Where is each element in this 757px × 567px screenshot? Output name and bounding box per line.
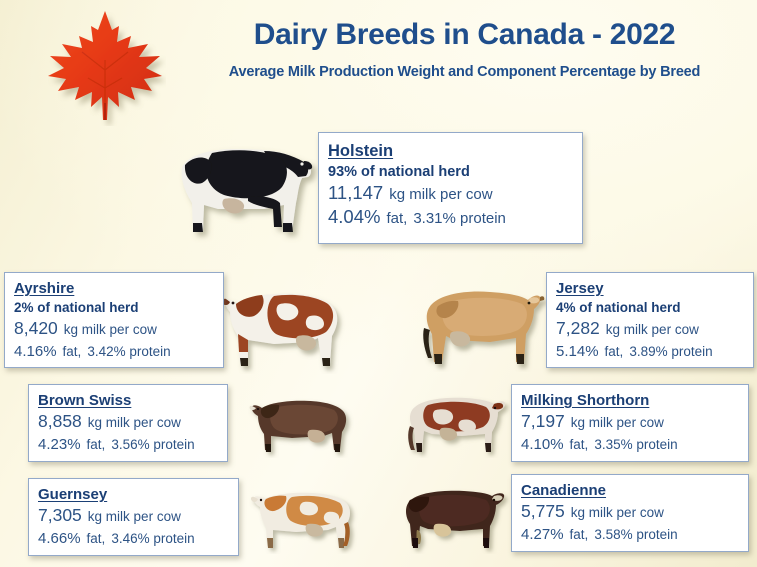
breed-name: Brown Swiss [38,391,218,410]
title-block: Dairy Breeds in Canada - 2022 Average Mi… [172,16,757,82]
milk-stat: 7,305 kg milk per cow [38,505,229,527]
component-stat: 4.16% fat, 3.42% protein [14,341,214,362]
fat-value: 4.16% [14,341,57,362]
herd-share: 93% of national herd [328,163,573,181]
protein-value: 3.35% protein [594,434,677,455]
breed-name: Ayrshire [14,279,214,298]
breed-name: Holstein [328,141,573,162]
protein-value: 3.46% protein [111,528,194,549]
milk-unit: kg milk per cow [389,184,492,205]
breed-name: Jersey [556,279,744,298]
holstein-cow-image [152,131,324,243]
breed-name: Milking Shorthorn [521,391,739,410]
breed-card-ayrshire: Ayrshire 2% of national herd 8,420 kg mi… [4,272,224,368]
fat-label: fat, [570,524,589,545]
breed-card-canadienne: Canadienne 5,775 kg milk per cow 4.27% f… [511,474,749,552]
fat-value: 4.66% [38,528,81,549]
fat-value: 4.27% [521,524,564,545]
milk-value: 11,147 [328,182,383,203]
milking-shorthorn-cow-image [398,386,510,458]
protein-value: 3.89% protein [629,341,712,362]
herd-share: 4% of national herd [556,299,744,317]
milk-unit: kg milk per cow [88,506,181,527]
brown-swiss-cow-image [248,388,354,458]
fat-label: fat, [605,341,624,362]
milk-stat: 8,858 kg milk per cow [38,411,218,433]
component-stat: 4.23% fat, 3.56% protein [38,434,218,455]
breed-name: Guernsey [38,485,229,504]
milk-unit: kg milk per cow [88,412,181,433]
fat-value: 5.14% [556,341,599,362]
page-subtitle: Average Milk Production Weight and Compo… [172,62,757,82]
ayrshire-cow-image [218,274,346,374]
breed-card-milking-shorthorn: Milking Shorthorn 7,197 kg milk per cow … [511,384,749,462]
milk-unit: kg milk per cow [571,412,664,433]
breed-card-brown-swiss: Brown Swiss 8,858 kg milk per cow 4.23% … [28,384,228,462]
protein-value: 3.31% protein [413,208,506,229]
header: Dairy Breeds in Canada - 2022 Average Mi… [0,0,757,120]
component-stat: 4.10% fat, 3.35% protein [521,434,739,455]
component-stat: 5.14% fat, 3.89% protein [556,341,744,362]
protein-value: 3.42% protein [87,341,170,362]
protein-value: 3.56% protein [111,434,194,455]
component-stat: 4.27% fat, 3.58% protein [521,524,739,545]
breed-card-jersey: Jersey 4% of national herd 7,282 kg milk… [546,272,754,368]
milk-stat: 11,147 kg milk per cow [328,182,573,205]
fat-label: fat, [87,434,106,455]
milk-stat: 7,282 kg milk per cow [556,318,744,340]
milk-value: 5,775 [521,501,565,522]
fat-label: fat, [386,208,407,229]
infographic-canvas: Dairy Breeds in Canada - 2022 Average Mi… [0,0,757,567]
milk-unit: kg milk per cow [606,319,699,340]
breed-name: Canadienne [521,481,739,500]
maple-leaf-icon [44,8,166,126]
milk-unit: kg milk per cow [571,502,664,523]
breed-card-holstein: Holstein 93% of national herd 11,147 kg … [318,132,583,244]
page-title: Dairy Breeds in Canada - 2022 [172,16,757,54]
milk-stat: 7,197 kg milk per cow [521,411,739,433]
protein-value: 3.58% protein [594,524,677,545]
fat-label: fat, [87,528,106,549]
milk-value: 7,197 [521,411,565,432]
component-stat: 4.04% fat, 3.31% protein [328,206,573,229]
fat-value: 4.10% [521,434,564,455]
canadienne-cow-image [394,480,510,554]
milk-value: 8,420 [14,318,58,339]
component-stat: 4.66% fat, 3.46% protein [38,528,229,549]
fat-value: 4.23% [38,434,81,455]
fat-label: fat, [63,341,82,362]
breed-card-guernsey: Guernsey 7,305 kg milk per cow 4.66% fat… [28,478,239,556]
jersey-cow-image [418,272,546,372]
milk-value: 7,282 [556,318,600,339]
milk-stat: 8,420 kg milk per cow [14,318,214,340]
fat-value: 4.04% [328,206,380,227]
guernsey-cow-image [248,480,360,554]
milk-unit: kg milk per cow [64,319,157,340]
herd-share: 2% of national herd [14,299,214,317]
milk-value: 8,858 [38,411,82,432]
milk-stat: 5,775 kg milk per cow [521,501,739,523]
fat-label: fat, [570,434,589,455]
milk-value: 7,305 [38,505,82,526]
